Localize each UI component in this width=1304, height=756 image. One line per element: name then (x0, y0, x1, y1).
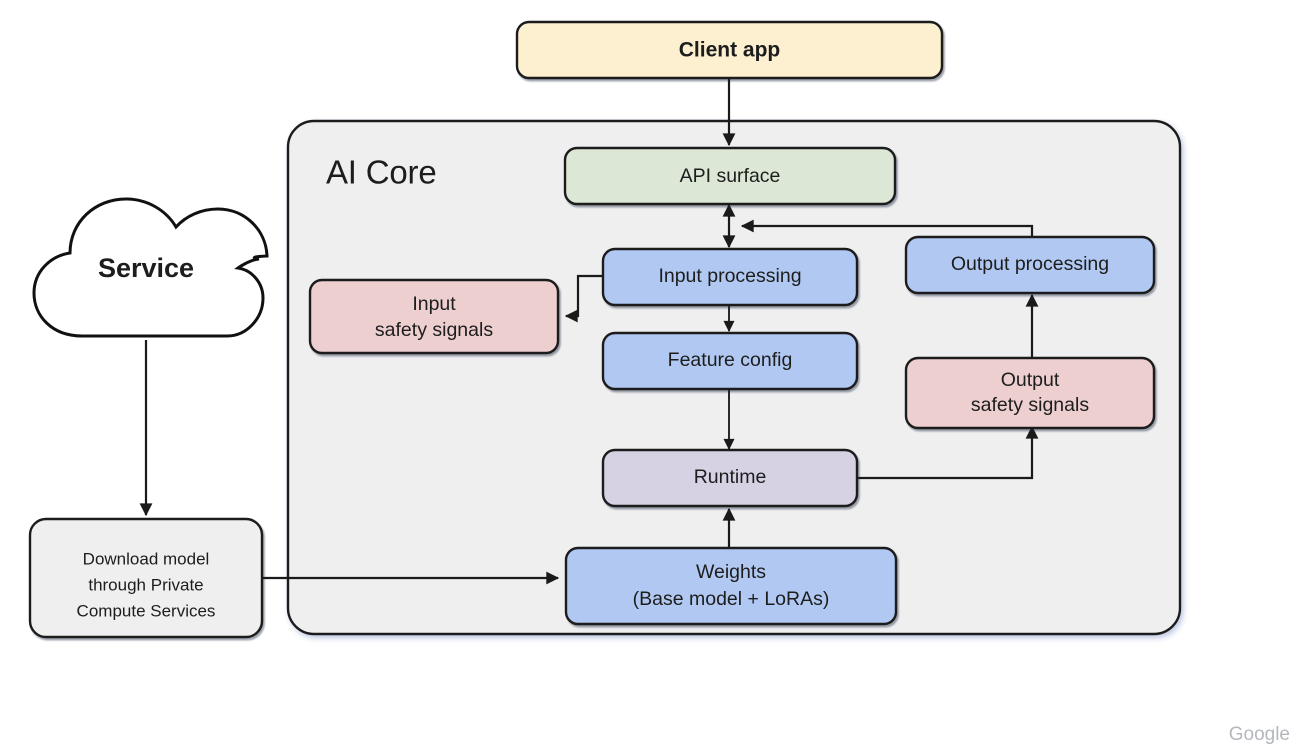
output-processing-label: Output processing (951, 253, 1109, 275)
architecture-diagram: AI Core (0, 0, 1304, 756)
download-model-label-line3: Compute Services (77, 601, 216, 620)
download-model-label-line1: Download model (83, 549, 210, 568)
google-watermark: Google (1229, 724, 1290, 745)
diagram-canvas: AI Core (0, 0, 1304, 756)
node-input-safety-signals[interactable]: Input safety signals (310, 280, 558, 353)
weights-box[interactable] (566, 548, 896, 624)
api-surface-label: API surface (680, 165, 781, 187)
node-output-processing[interactable]: Output processing (906, 237, 1154, 293)
node-feature-config[interactable]: Feature config (603, 333, 857, 389)
weights-label-line2: (Base model + LoRAs) (633, 588, 830, 610)
node-download-model[interactable]: Download model through Private Compute S… (30, 519, 262, 637)
node-runtime[interactable]: Runtime (603, 450, 857, 506)
input-processing-label: Input processing (658, 265, 801, 287)
client-app-label: Client app (679, 39, 781, 62)
node-input-processing[interactable]: Input processing (603, 249, 857, 305)
feature-config-label: Feature config (668, 349, 793, 371)
input-safety-signals-label-line2: safety signals (375, 319, 493, 341)
input-safety-signals-box[interactable] (310, 280, 558, 353)
service-cloud-label: Service (98, 253, 194, 283)
input-safety-signals-label-line1: Input (412, 293, 456, 315)
ai-core-title: AI Core (326, 154, 436, 191)
output-safety-signals-label-line1: Output (1001, 369, 1060, 391)
node-output-safety-signals[interactable]: Output safety signals (906, 358, 1154, 428)
runtime-label: Runtime (694, 466, 767, 488)
node-service-cloud[interactable]: Service (34, 199, 267, 336)
download-model-label-line2: through Private (88, 575, 203, 594)
node-api-surface[interactable]: API surface (565, 148, 895, 204)
weights-label-line1: Weights (696, 561, 766, 583)
output-safety-signals-label-line2: safety signals (971, 394, 1089, 416)
node-client-app[interactable]: Client app (517, 22, 942, 78)
node-weights[interactable]: Weights (Base model + LoRAs) (566, 548, 896, 624)
